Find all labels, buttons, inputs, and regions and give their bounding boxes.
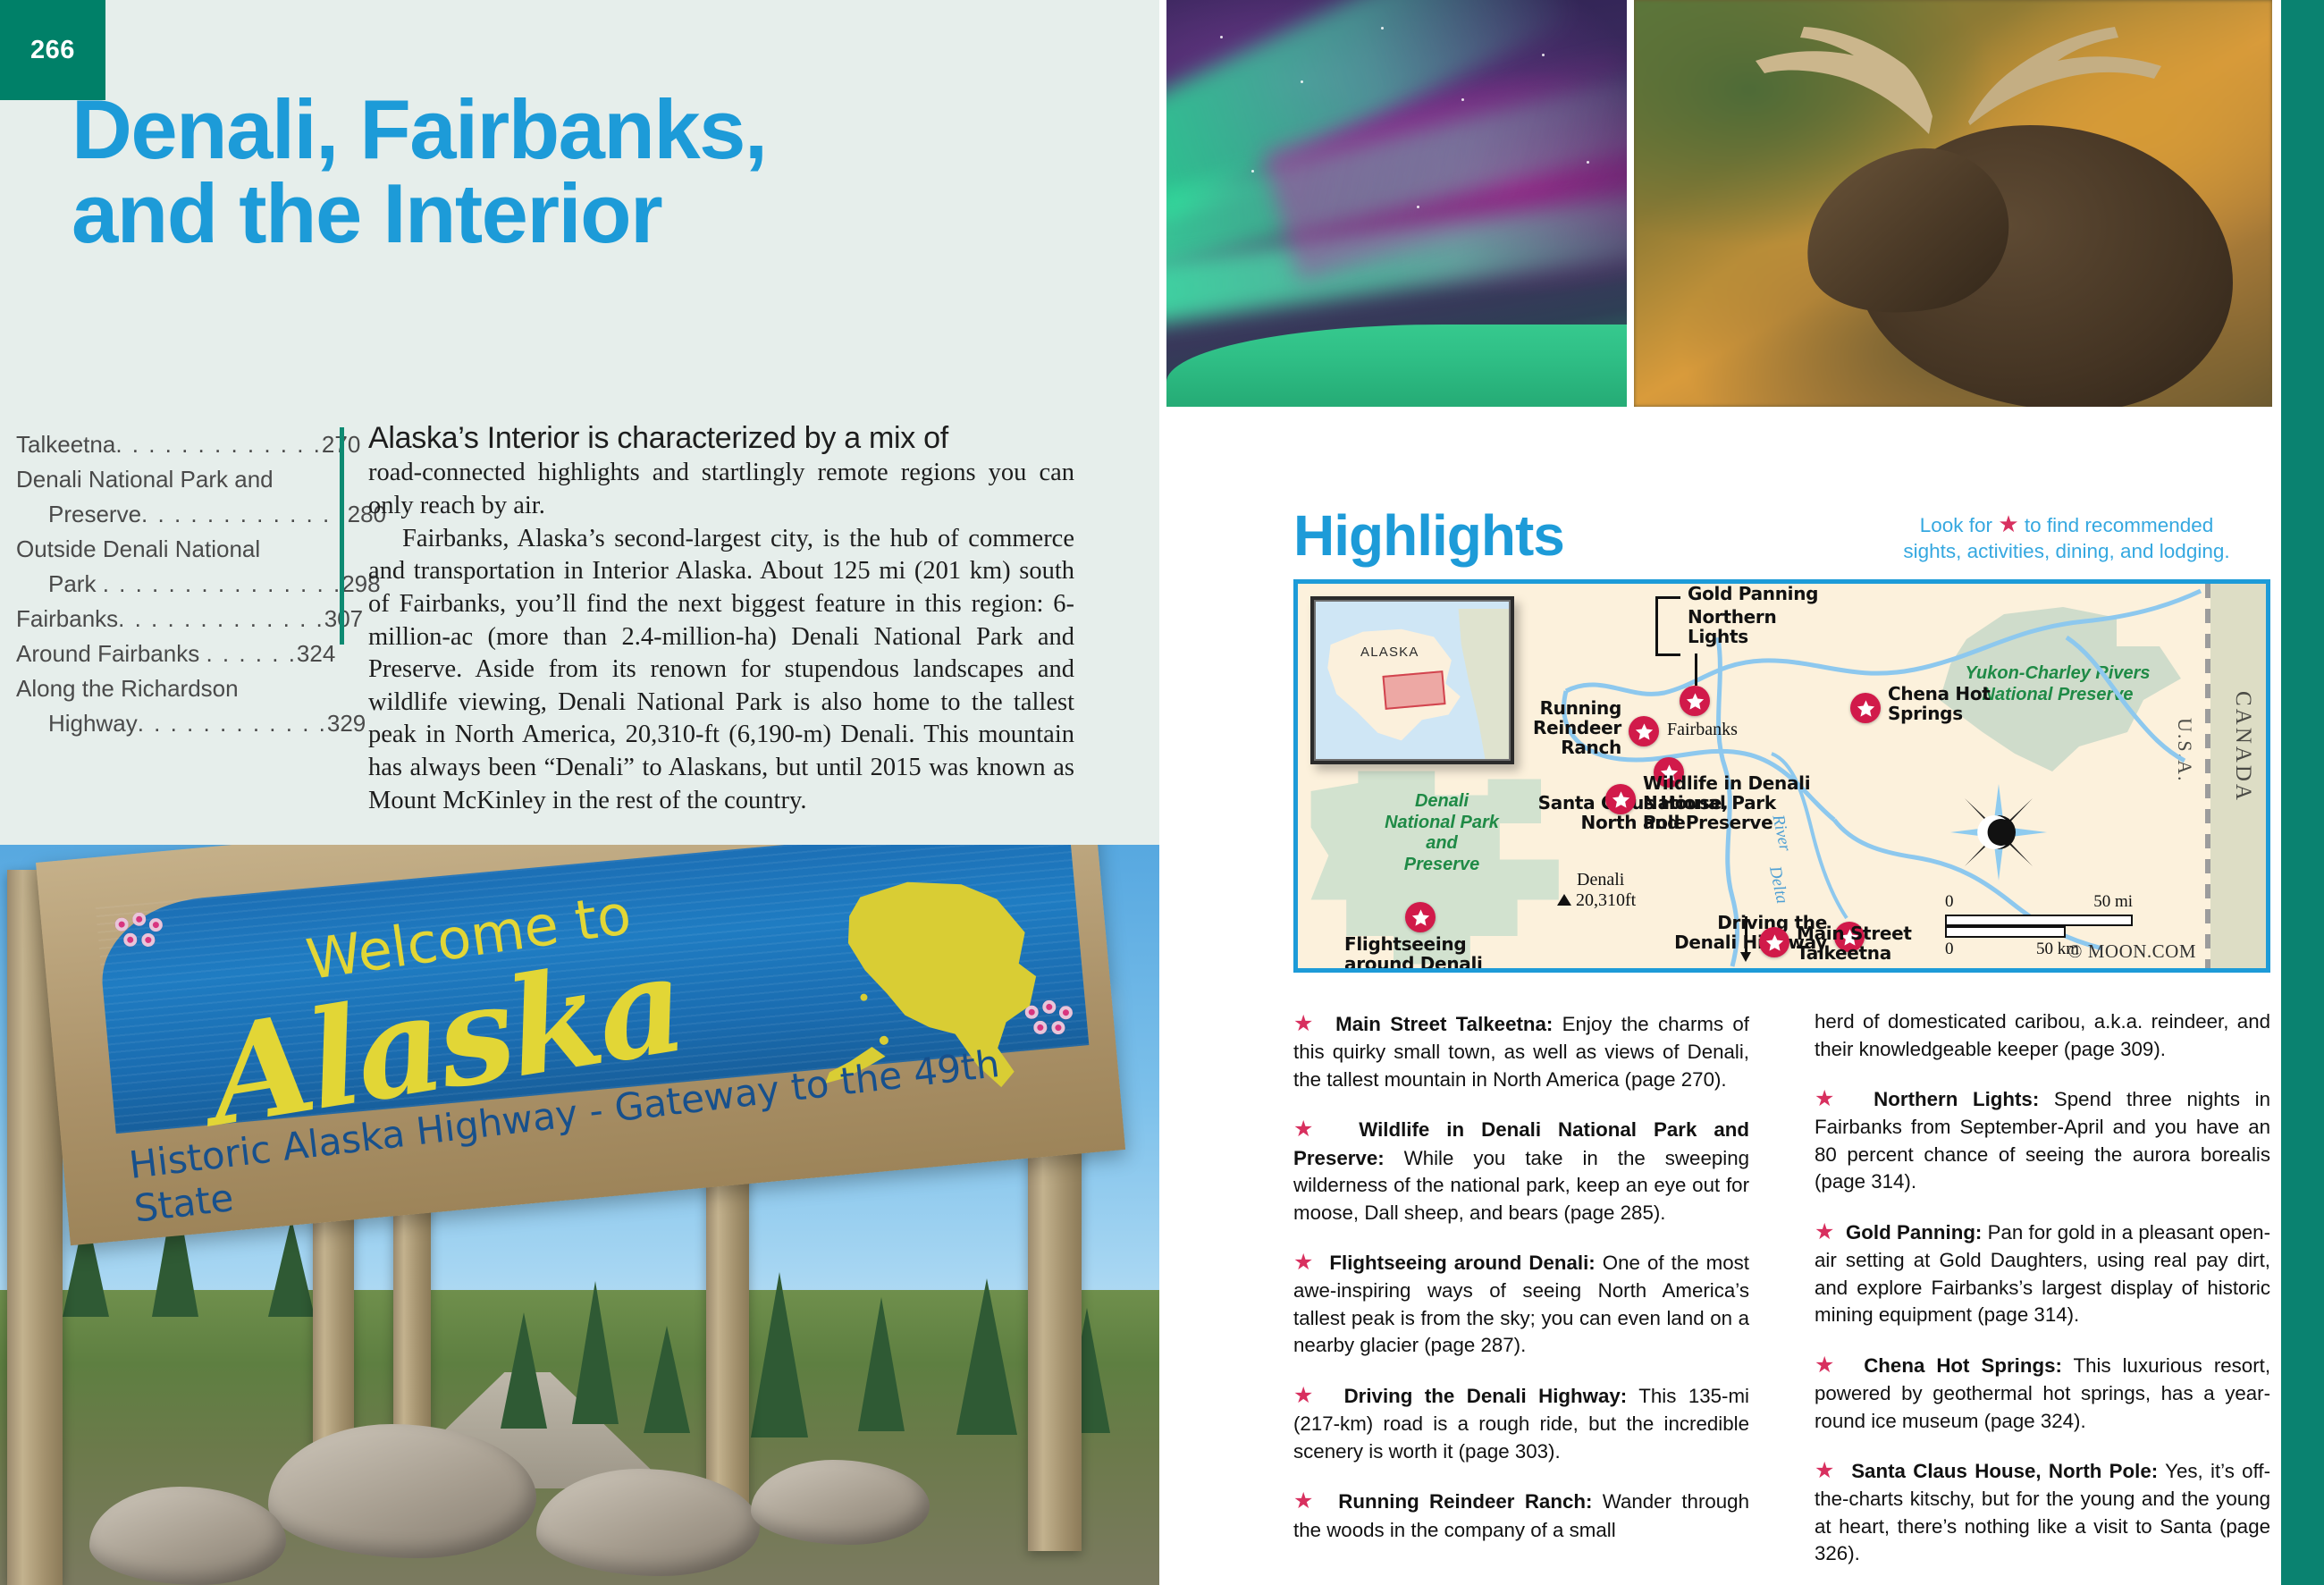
star-note-line1-after: to find recommended xyxy=(2025,514,2213,536)
highlight-title: Running Reindeer Ranch: xyxy=(1338,1490,1592,1513)
map-label-flightseeing-denali: Flightseeingaround Denali xyxy=(1344,934,1483,973)
highlight-flightseeing-denali: ★ Flightseeing around Denali: One of the… xyxy=(1293,1247,1749,1360)
map-label-northern-lights: NorthernLights xyxy=(1688,607,1776,646)
toc-entry-outside-denali-line1[interactable]: Outside Denali National xyxy=(16,532,320,567)
highlight-wildlife-denali: ★ Wildlife in Denali National Park and P… xyxy=(1293,1114,1749,1227)
highlight-title: Main Street Talkeetna: xyxy=(1335,1013,1553,1035)
toc-entry-denali-np-line2[interactable]: Preserve. . . . . . . . . . . . .280 xyxy=(16,497,320,532)
map-marker-flightseeing-denali[interactable] xyxy=(1405,902,1436,932)
toc-entry-talkeetna[interactable]: Talkeetna. . . . . . . . . . . . .270 xyxy=(16,427,320,462)
highlight-main-street-talkeetna: ★ Main Street Talkeetna: Enjoy the charm… xyxy=(1293,1008,1749,1093)
page-title: Denali, Fairbanks, and the Interior xyxy=(72,88,1073,256)
spruce-tree xyxy=(572,1281,619,1424)
chapter-title-line-1: Denali, Fairbanks, xyxy=(72,88,1073,172)
highlight-title: Driving the Denali Highway: xyxy=(1344,1385,1628,1407)
star-icon: ★ xyxy=(1815,1353,1840,1378)
left-page: 266 Denali, Fairbanks, and the Interior … xyxy=(0,0,1159,1585)
bull-moose-photo xyxy=(1634,0,2272,407)
alaska-locator-inset: ALASKA xyxy=(1310,596,1514,764)
toc-label: Talkeetna xyxy=(16,431,115,458)
moose-antlers xyxy=(1750,18,2170,197)
toc-entry-outside-denali-line2[interactable]: Park . . . . . . . . . . . . . . .298 xyxy=(16,567,320,602)
star-icon: ★ xyxy=(1293,1488,1318,1513)
highlights-heading: Highlights xyxy=(1293,502,1564,569)
map-label-main-street-talkeetna: Main StreetTalkeetna xyxy=(1797,923,1912,963)
scale-bar-km xyxy=(1945,926,2066,938)
star-icon: ★ xyxy=(1293,1383,1320,1408)
map-label-denali-peak: Denali 20,310ft xyxy=(1557,870,1636,911)
spruce-tree xyxy=(858,1297,905,1431)
highlight-chena-hot-springs: ★ Chena Hot Springs: This luxurious reso… xyxy=(1815,1350,2270,1435)
map-marker-chena-hot-springs[interactable] xyxy=(1850,693,1881,723)
map-label-chena-hot-springs: Chena HotSprings xyxy=(1888,684,1991,723)
toc-entry-denali-np-line1[interactable]: Denali National Park and xyxy=(16,462,320,497)
toc-entry-richardson-line2[interactable]: Highway. . . . . . . . . . . .329 xyxy=(16,706,320,741)
spruce-tree xyxy=(956,1278,1017,1435)
highlight-driving-denali-highway: ★ Driving the Denali Highway: This 135-m… xyxy=(1293,1380,1749,1465)
book-page-spread: 266 Denali, Fairbanks, and the Interior … xyxy=(0,0,2324,1585)
highlight-title: Santa Claus House, North Pole: xyxy=(1851,1460,2158,1482)
intro-paragraph-2: Fairbanks, Alaska’s second-largest city,… xyxy=(368,523,1074,817)
peak-elevation: 20,310ft xyxy=(1576,890,1636,910)
highlight-santa-claus-house: ★ Santa Claus House, North Pole: Yes, it… xyxy=(1815,1455,2270,1568)
chapter-title-line-2: and the Interior xyxy=(72,172,1073,256)
toc-dots: . . . . . . . . . . . . xyxy=(138,710,327,737)
toc-dots: . . . . . . . . . . . . . . . xyxy=(103,570,342,597)
highlight-northern-lights: ★ Northern Lights: Spend three nights in… xyxy=(1815,1083,2270,1196)
map-copyright: © MOON.COM xyxy=(2068,940,2196,963)
inset-detail-rectangle xyxy=(1382,670,1445,710)
highlight-title: Northern Lights: xyxy=(1874,1088,2039,1110)
spruce-tree xyxy=(751,1272,808,1437)
toc-dots: . . . . . . . . . . . . . xyxy=(141,501,348,527)
toc-label: Around Fairbanks xyxy=(16,640,206,667)
map-marker-main-street-talkeetna[interactable] xyxy=(1759,927,1789,957)
map-marker-wildlife-denali[interactable] xyxy=(1605,784,1636,814)
leader-line xyxy=(1655,653,1680,656)
map-label-running-reindeer-ranch: RunningReindeerRanch xyxy=(1486,698,1621,757)
map-marker-gold-panning-northern-lights[interactable] xyxy=(1680,686,1710,716)
highlights-map[interactable]: CANADA U.S.A. DenaliNational ParkandPres… xyxy=(1293,579,2270,973)
highlight-running-reindeer-ranch-continued: herd of domesticated caribou, a.k.a. rei… xyxy=(1815,1008,2270,1063)
star-icon: ★ xyxy=(1815,1458,1837,1483)
aurora-borealis-photo xyxy=(1166,0,1627,407)
toc-dots: . . . . . . xyxy=(206,640,296,667)
highlight-gold-panning: ★ Gold Panning: Pan for gold in a pleasa… xyxy=(1815,1217,2270,1329)
sign-post xyxy=(706,1149,749,1506)
star-legend-note: Look for ★ to find recommended sights, a… xyxy=(1879,510,2254,565)
leader-line xyxy=(1655,596,1658,655)
toc-page: 324 xyxy=(297,640,335,667)
compass-rose-icon xyxy=(1950,784,2047,881)
highlights-text-columns: ★ Main Street Talkeetna: Enjoy the charm… xyxy=(1293,1008,2270,1581)
map-label-wildlife-denali: Wildlife in DenaliNational Parkand Prese… xyxy=(1643,773,1810,832)
toc-label: Park xyxy=(48,570,103,597)
map-label-gold-panning: Gold Panning xyxy=(1688,584,1818,603)
spruce-tree xyxy=(501,1312,547,1429)
leader-line xyxy=(1695,653,1697,686)
intro-paragraph-1: road-connected highlights and startlingl… xyxy=(368,457,1074,522)
inset-label-alaska: ALASKA xyxy=(1360,645,1419,660)
toc-label: Outside Denali National xyxy=(16,535,260,562)
scale-bar-miles xyxy=(1945,915,2133,926)
star-note-line1-before: Look for xyxy=(1920,514,1992,536)
highlights-column-right: herd of domesticated caribou, a.k.a. rei… xyxy=(1815,1008,2270,1585)
page-edge-bar xyxy=(2281,0,2324,1585)
page-number: 266 xyxy=(30,36,75,65)
intro-text-block: Alaska’s Interior is characterized by a … xyxy=(368,420,1074,817)
sign-post-right xyxy=(1028,1140,1082,1551)
toc-page: 329 xyxy=(327,710,366,737)
spruce-tree xyxy=(268,1218,315,1317)
star-icon: ★ xyxy=(1815,1219,1834,1244)
highlight-title: Flightseeing around Denali: xyxy=(1329,1252,1595,1274)
map-marker-running-reindeer-ranch[interactable] xyxy=(1629,716,1659,746)
toc-entry-richardson-line1[interactable]: Along the Richardson xyxy=(16,671,320,706)
star-icon: ★ xyxy=(1815,1086,1844,1111)
right-page: Highlights Look for ★ to find recommende… xyxy=(1159,0,2324,1585)
map-label-fairbanks: Fairbanks xyxy=(1667,720,1738,740)
toc-label: Highway xyxy=(48,710,138,737)
inset-map-frame: ALASKA xyxy=(1314,600,1511,761)
highlight-running-reindeer-ranch: ★ Running Reindeer Ranch: Wander through… xyxy=(1293,1486,1749,1544)
toc-entry-around-fairbanks[interactable]: Around Fairbanks . . . . . .324 xyxy=(16,637,320,671)
star-icon: ★ xyxy=(1293,1250,1315,1275)
intro-lead-sentence: Alaska’s Interior is characterized by a … xyxy=(368,420,1074,457)
toc-dots: . . . . . . . . . . . . . xyxy=(115,431,322,458)
toc-label: Fairbanks xyxy=(16,605,118,632)
scale-mi-zero: 0 xyxy=(1945,892,1954,912)
toc-label: Denali National Park and xyxy=(16,466,274,493)
toc-entry-fairbanks[interactable]: Fairbanks. . . . . . . . . . . . .307 xyxy=(16,602,320,637)
highlight-title: Gold Panning: xyxy=(1846,1221,1982,1244)
leader-line xyxy=(1655,596,1680,599)
table-of-contents: Talkeetna. . . . . . . . . . . . .270 De… xyxy=(16,427,320,741)
star-note-line2: sights, activities, dining, and lodging. xyxy=(1903,540,2229,562)
vertical-divider xyxy=(340,427,344,645)
star-icon: ★ xyxy=(1293,1011,1318,1036)
direction-arrow xyxy=(1745,916,1747,954)
toc-dots: . . . . . . . . . . . . . xyxy=(118,605,324,632)
star-icon: ★ xyxy=(1293,1117,1325,1142)
toc-label: Along the Richardson xyxy=(16,675,239,702)
peak-name: Denali xyxy=(1557,870,1624,889)
highlight-title: Chena Hot Springs: xyxy=(1864,1354,2062,1377)
highlights-column-left: ★ Main Street Talkeetna: Enjoy the charm… xyxy=(1293,1008,1749,1564)
scale-km-zero: 0 xyxy=(1945,940,1954,959)
scale-mi-max: 50 mi xyxy=(2093,892,2133,912)
toc-label: Preserve xyxy=(48,501,141,527)
spruce-tree xyxy=(644,1326,690,1433)
mountain-triangle-icon xyxy=(1557,894,1571,906)
flower-decoration xyxy=(109,910,170,962)
star-icon: ★ xyxy=(1998,510,2018,537)
alaska-welcome-sign-photo: Welcome to Alaska Historic Alaska Highwa… xyxy=(0,845,1159,1585)
